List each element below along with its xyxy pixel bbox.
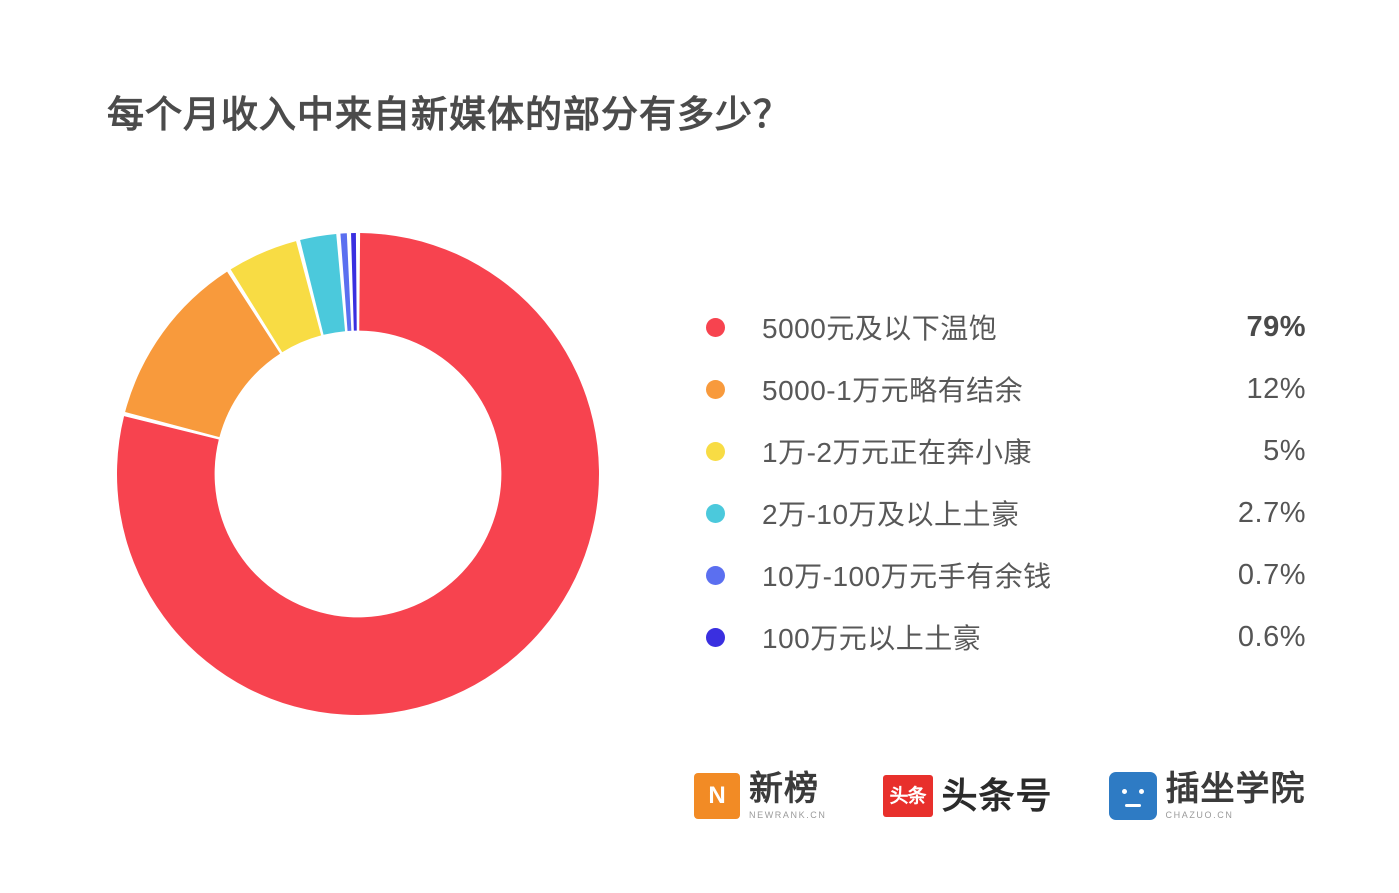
legend-item[interactable]: 2万-10万及以上土豪 2.7% — [706, 482, 1306, 544]
newrank-text: 新榜 NEWRANK.CN — [749, 772, 827, 820]
chazuo-eye-left-icon — [1122, 789, 1127, 794]
toutiao-name: 头条号 — [942, 778, 1053, 814]
legend-item-value: 0.6% — [1176, 621, 1306, 654]
legend-item[interactable]: 1万-2万元正在奔小康 5% — [706, 420, 1306, 482]
legend-item-value: 2.7% — [1176, 497, 1306, 530]
legend-color-dot-icon — [706, 380, 725, 399]
logo-chazuo: 插坐学院 CHAZUO.CN — [1109, 772, 1306, 820]
legend-swatch-cell — [706, 442, 762, 461]
legend-item-label: 1万-2万元正在奔小康 — [762, 431, 1176, 471]
legend-item-label: 100万元以上土豪 — [762, 617, 1176, 657]
chazuo-mouth-icon — [1125, 804, 1141, 807]
donut-slice-group — [117, 233, 599, 715]
legend-item-label: 2万-10万及以上土豪 — [762, 493, 1176, 533]
logo-newrank: N 新榜 NEWRANK.CN — [694, 772, 827, 820]
legend-swatch-cell — [706, 504, 762, 523]
donut-slice[interactable] — [351, 233, 357, 331]
legend-item[interactable]: 10万-100万元手有余钱 0.7% — [706, 544, 1306, 606]
legend-item-value: 12% — [1176, 373, 1306, 406]
legend-item-label: 10万-100万元手有余钱 — [762, 555, 1176, 595]
newrank-mark-icon: N — [694, 773, 740, 819]
chazuo-eye-right-icon — [1139, 789, 1144, 794]
legend-swatch-cell — [706, 628, 762, 647]
legend-swatch-cell — [706, 380, 762, 399]
legend-color-dot-icon — [706, 318, 725, 337]
page-title: 每个月收入中来自新媒体的部分有多少？ — [107, 84, 791, 138]
legend-item-value: 0.7% — [1176, 559, 1306, 592]
chart-legend: 5000元及以下温饱 79% 5000-1万元略有结余 12% 1万-2万元正在… — [706, 296, 1306, 668]
legend-item[interactable]: 5000元及以下温饱 79% — [706, 296, 1306, 358]
legend-color-dot-icon — [706, 628, 725, 647]
donut-chart-svg — [117, 233, 599, 715]
legend-color-dot-icon — [706, 442, 725, 461]
legend-item-value: 79% — [1176, 311, 1306, 344]
legend-item-label: 5000-1万元略有结余 — [762, 369, 1176, 409]
footer-logo-row: N 新榜 NEWRANK.CN 头条 头条号 插坐学院 CHAZUO.CN — [694, 772, 1306, 820]
chazuo-text: 插坐学院 CHAZUO.CN — [1166, 772, 1306, 820]
legend-item[interactable]: 5000-1万元略有结余 12% — [706, 358, 1306, 420]
newrank-name: 新榜 — [749, 772, 827, 806]
legend-swatch-cell — [706, 566, 762, 585]
toutiao-mark-icon: 头条 — [883, 775, 933, 817]
chazuo-name: 插坐学院 — [1166, 772, 1306, 806]
newrank-sub: NEWRANK.CN — [749, 811, 827, 820]
legend-swatch-cell — [706, 318, 762, 337]
legend-color-dot-icon — [706, 504, 725, 523]
logo-toutiaohao: 头条 头条号 — [883, 775, 1053, 817]
legend-item-label: 5000元及以下温饱 — [762, 307, 1176, 347]
chazuo-face-mark-icon — [1109, 772, 1157, 820]
legend-item-value: 5% — [1176, 435, 1306, 468]
chazuo-sub: CHAZUO.CN — [1166, 811, 1306, 820]
legend-item[interactable]: 100万元以上土豪 0.6% — [706, 606, 1306, 668]
donut-chart — [117, 233, 599, 715]
toutiao-text: 头条号 — [942, 778, 1053, 814]
legend-color-dot-icon — [706, 566, 725, 585]
